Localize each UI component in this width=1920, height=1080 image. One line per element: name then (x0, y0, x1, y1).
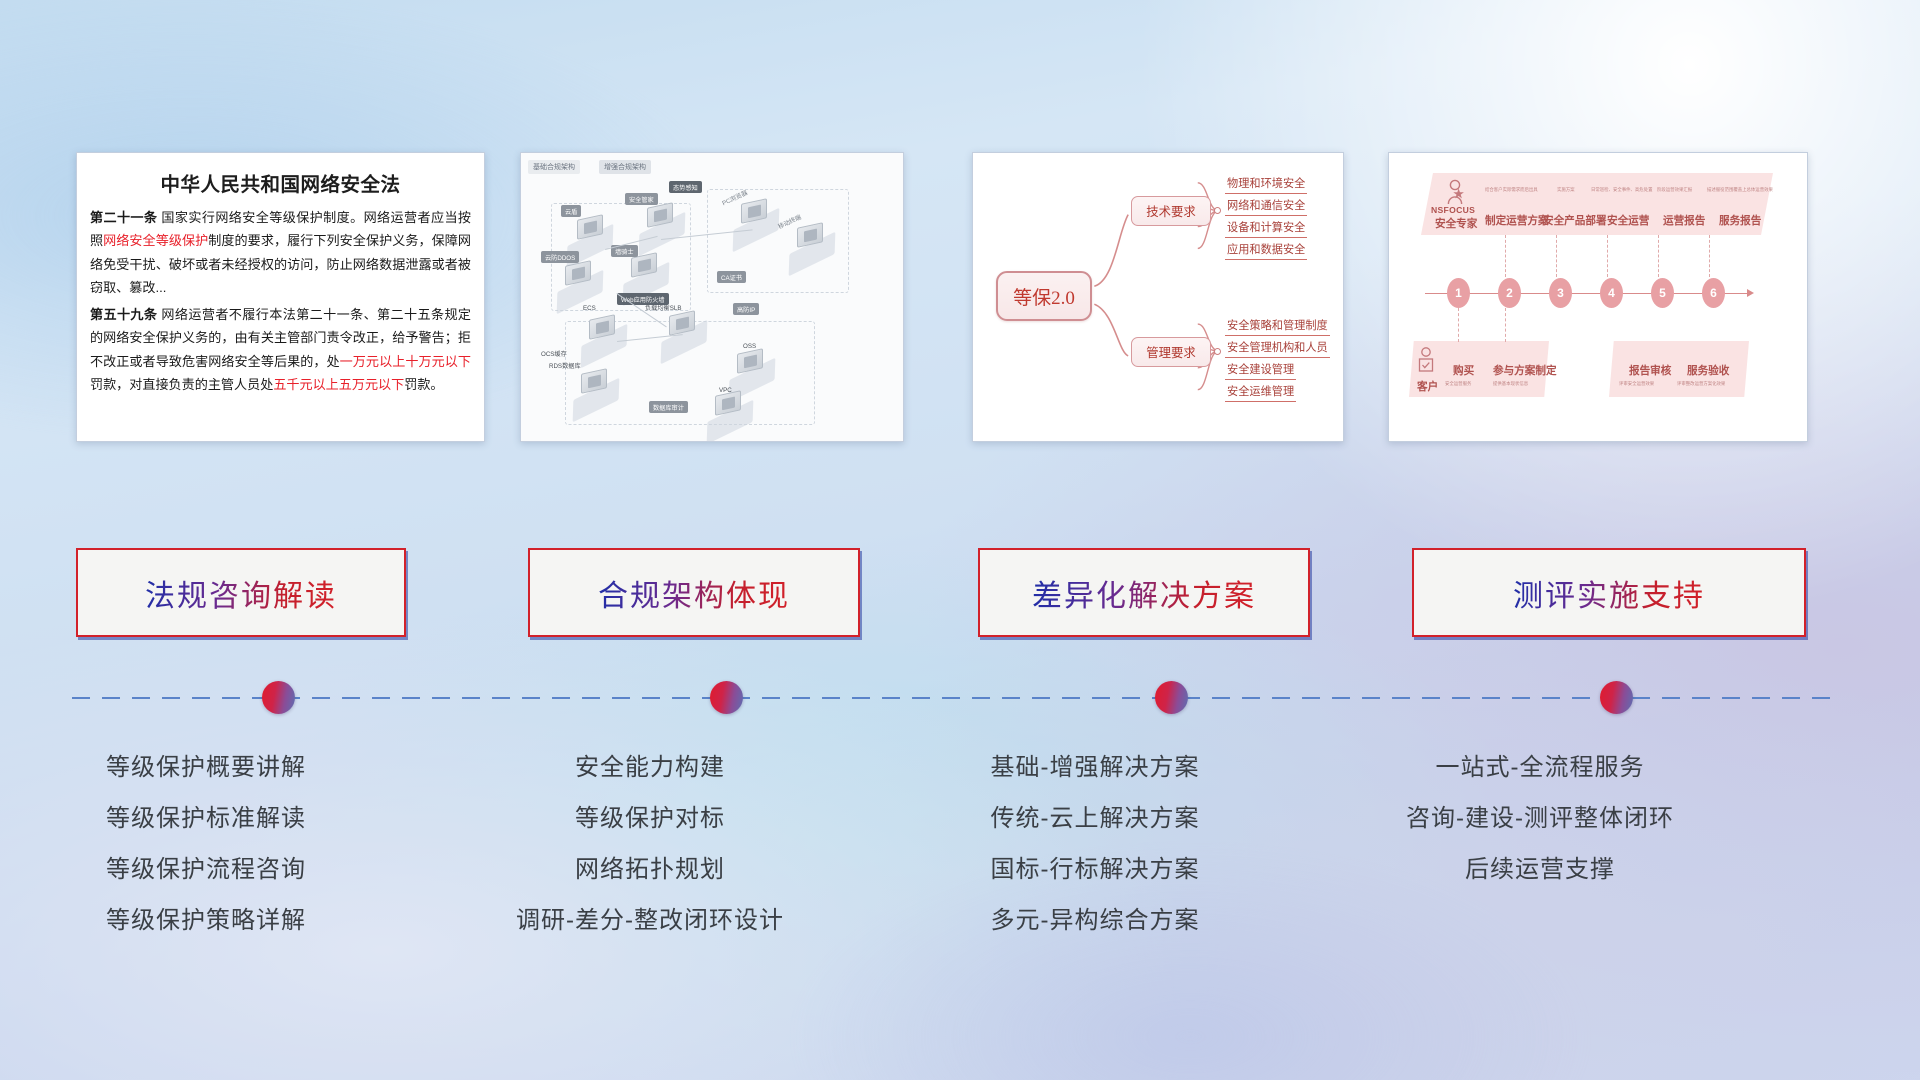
process-step-number-6: 6 (1702, 278, 1725, 308)
tag-label-2: 合规架构体现 (598, 571, 790, 615)
process-connector-c1 (1458, 308, 1459, 342)
article-59-text-part2: 罚款，对直接负责的主管人员处 (90, 377, 273, 392)
slide-canvas: 中华人民共和国网络安全法 第二十一条 国家实行网络安全等级保护制度。网络运营者应… (0, 0, 1920, 1080)
arch-label-rds: RDS数据库 (549, 361, 581, 370)
tag-label-3: 差异化解决方案 (1032, 571, 1256, 615)
list-column-1: 等级保护概要讲解 等级保护标准解读 等级保护流程咨询 等级保护策略详解 (46, 742, 366, 946)
step-3-sub: 实施方案 (1557, 187, 1575, 193)
mindmap-leaf-physical-env: 物理和环境安全 (1225, 175, 1307, 194)
mindmap-leaf-policy-system: 安全策略和管理制度 (1225, 317, 1330, 336)
arch-label-core: 态势感知 (669, 181, 702, 193)
timeline-dot-2[interactable] (710, 681, 743, 714)
arch-label-anti-ddos: 云防DDOS (541, 251, 579, 263)
tag-box-assessment-support[interactable]: 测评实施支持 (1412, 548, 1806, 637)
customer-step-4-sub: 评审整改运营方案化效果 (1677, 381, 1725, 387)
customer-step-3-sub: 评审安全运营效果 (1619, 381, 1654, 387)
list-item: 等级保护流程咨询 (46, 844, 366, 895)
law-article-59: 第五十九条 网络运营者不履行本法第二十一条、第二十五条规定的网络安全保护义务的，… (90, 303, 471, 397)
arch-label-highdefense-ip: 高防IP (733, 303, 759, 315)
card-compliance-architecture[interactable]: 基础合规架构 增强合规架构 态势感知 云盾 安全管家 云防DDOS 墙骑士 (520, 152, 904, 442)
process-connector-4 (1607, 235, 1608, 277)
step-5-sub: 阶段运营效果汇报 (1657, 187, 1692, 193)
arch-label-security-butler: 安全管家 (625, 193, 658, 205)
process-connector-2 (1505, 235, 1506, 277)
mindmap: 等保2.0 技术要求 物理和环境安全 网络和通信安全 设备和计算安全 应用和数据… (973, 153, 1343, 441)
arch-label-slb: 负载均衡SLB (645, 303, 681, 312)
list-column-4: 一站式-全流程服务 咨询-建设-测评整体闭环 后续运营支撑 (1380, 742, 1700, 895)
mindmap-leaf-network-comm: 网络和通信安全 (1225, 197, 1307, 216)
article-59-highlight-2: 五千元以上五万元以下 (273, 377, 404, 392)
customer-step-3-title: 报告审核 (1629, 363, 1671, 378)
list-column-3: 基础-增强解决方案 传统-云上解决方案 国标-行标解决方案 多元-异构综合方案 (935, 742, 1255, 946)
customer-role: 客户 (1417, 379, 1438, 394)
list-item: 后续运营支撑 (1380, 844, 1700, 895)
step-3-title: 安全产品部署 (1543, 213, 1607, 228)
article-21-highlight: 网络安全等级保护 (103, 233, 208, 248)
tag-box-differentiated-solution[interactable]: 差异化解决方案 (978, 548, 1310, 637)
mindmap-branch-technical[interactable]: 技术要求 (1131, 196, 1211, 226)
step-6-sub: 描述服役范围覆盖上总体运营效果 (1707, 187, 1773, 193)
step-4-title: 安全运营 (1607, 213, 1649, 228)
step-2-title: 制定运营方案 (1485, 213, 1549, 228)
arch-tab-enhanced: 增强合规架构 (599, 160, 651, 174)
process-connector-6 (1709, 235, 1710, 277)
list-item: 安全能力构建 (490, 742, 810, 793)
law-article-21: 第二十一条 国家实行网络安全等级保护制度。网络运营者应当按照网络安全等级保护制度… (90, 206, 471, 300)
article-21-label: 第二十一条 (90, 210, 157, 225)
law-body: 第二十一条 国家实行网络安全等级保护制度。网络运营者应当按照网络安全等级保护制度… (77, 197, 484, 397)
customer-step-2-title: 参与方案制定 (1493, 363, 1557, 378)
timeline-dot-3[interactable] (1155, 681, 1188, 714)
arch-label-ca-cert: CA证书 (717, 271, 746, 283)
card-cybersecurity-law[interactable]: 中华人民共和国网络安全法 第二十一条 国家实行网络安全等级保护制度。网络运营者应… (76, 152, 485, 442)
arch-label-oss: OSS (743, 343, 756, 350)
customer-step-1-title: 购买 (1453, 363, 1474, 378)
customer-step-2-sub: 提供基本现状信息 (1493, 381, 1528, 387)
card-mindmap-dengbao[interactable]: 等保2.0 技术要求 物理和环境安全 网络和通信安全 设备和计算安全 应用和数据… (972, 152, 1344, 442)
arch-label-db-audit: 数据库审计 (649, 401, 688, 413)
expert-role: 安全专家 (1435, 216, 1477, 231)
expert-person-icon (1445, 179, 1465, 205)
customer-step-1-sub: 安全运营服务 (1445, 381, 1471, 387)
article-59-label: 第五十九条 (90, 307, 157, 322)
mindmap-branch-management[interactable]: 管理要求 (1131, 337, 1211, 367)
process-step-number-4: 4 (1600, 278, 1623, 308)
mindmap-leaf-org-personnel: 安全管理机构和人员 (1225, 339, 1330, 358)
list-item: 等级保护策略详解 (46, 895, 366, 946)
mindmap-collapse-icon-technical[interactable] (1214, 207, 1221, 214)
tag-label-4: 测评实施支持 (1513, 571, 1705, 615)
mindmap-leaf-construction: 安全建设管理 (1225, 361, 1296, 380)
process-step-number-1: 1 (1447, 278, 1470, 308)
list-item: 咨询-建设-测评整体闭环 (1380, 793, 1700, 844)
timeline-dot-4[interactable] (1600, 681, 1633, 714)
step-4-sub: 日常巡检、安全事件、高危处置 (1591, 187, 1652, 193)
timeline-dot-1[interactable] (262, 681, 295, 714)
customer-person-icon (1417, 347, 1435, 377)
arch-label-ocs: OCS缓存 (541, 349, 567, 358)
process-axis (1425, 293, 1749, 294)
timeline-dashed-line (72, 697, 1842, 699)
list-item: 等级保护对标 (490, 793, 810, 844)
mindmap-leaf-operation: 安全运维管理 (1225, 383, 1296, 402)
card-nsfocus-process[interactable]: NSFOCUS 安全专家 结合客户实际需求而后出具 制定运营方案 实施方案 安全… (1388, 152, 1808, 442)
expert-brand: NSFOCUS (1431, 205, 1475, 215)
mindmap-collapse-icon-management[interactable] (1214, 348, 1221, 355)
process-connector-3 (1556, 235, 1557, 277)
list-item: 等级保护概要讲解 (46, 742, 366, 793)
list-item: 传统-云上解决方案 (935, 793, 1255, 844)
process-connector-c2 (1505, 308, 1506, 342)
list-item: 国标-行标解决方案 (935, 844, 1255, 895)
arch-label-cloud-shield: 云盾 (561, 205, 581, 217)
process-axis-arrow-icon (1747, 289, 1754, 297)
mindmap-leaf-device-compute: 设备和计算安全 (1225, 219, 1307, 238)
arch-label-ecs: ECS (583, 305, 596, 312)
list-item: 网络拓扑规划 (490, 844, 810, 895)
article-59-text-part3: 罚款。 (404, 377, 443, 392)
process-step-number-2: 2 (1498, 278, 1521, 308)
architecture-diagram: 基础合规架构 增强合规架构 态势感知 云盾 安全管家 云防DDOS 墙骑士 (521, 153, 903, 441)
list-item: 调研-差分-整改闭环设计 (490, 895, 810, 946)
article-59-highlight-1: 一万元以上十万元以下 (340, 354, 471, 369)
process-connector-5 (1658, 235, 1659, 277)
list-item: 基础-增强解决方案 (935, 742, 1255, 793)
list-column-2: 安全能力构建 等级保护对标 网络拓扑规划 调研-差分-整改闭环设计 (490, 742, 810, 946)
tag-box-regulation-consulting[interactable]: 法规咨询解读 (76, 548, 406, 637)
arch-tab-basic: 基础合规架构 (528, 160, 580, 174)
arch-label-vpc: VPC (719, 387, 732, 394)
customer-step-4-title: 服务验收 (1687, 363, 1729, 378)
law-title: 中华人民共和国网络安全法 (77, 153, 484, 197)
mindmap-leaf-app-data: 应用和数据安全 (1225, 241, 1307, 260)
process-step-number-3: 3 (1549, 278, 1572, 308)
mindmap-root-node[interactable]: 等保2.0 (996, 271, 1092, 321)
step-2-sub: 结合客户实际需求而后出具 (1485, 187, 1538, 193)
preview-cards-row: 中华人民共和国网络安全法 第二十一条 国家实行网络安全等级保护制度。网络运营者应… (0, 152, 1920, 444)
process-step-number-5: 5 (1651, 278, 1674, 308)
step-5-title: 运营报告 (1663, 213, 1705, 228)
tag-box-compliance-architecture[interactable]: 合规架构体现 (528, 548, 860, 637)
step-6-title: 服务报告 (1719, 213, 1761, 228)
timeline (72, 697, 1842, 699)
list-item: 等级保护标准解读 (46, 793, 366, 844)
list-item: 多元-异构综合方案 (935, 895, 1255, 946)
process-diagram: NSFOCUS 安全专家 结合客户实际需求而后出具 制定运营方案 实施方案 安全… (1389, 153, 1807, 441)
list-item: 一站式-全流程服务 (1380, 742, 1700, 793)
tag-label-1: 法规咨询解读 (145, 571, 337, 615)
